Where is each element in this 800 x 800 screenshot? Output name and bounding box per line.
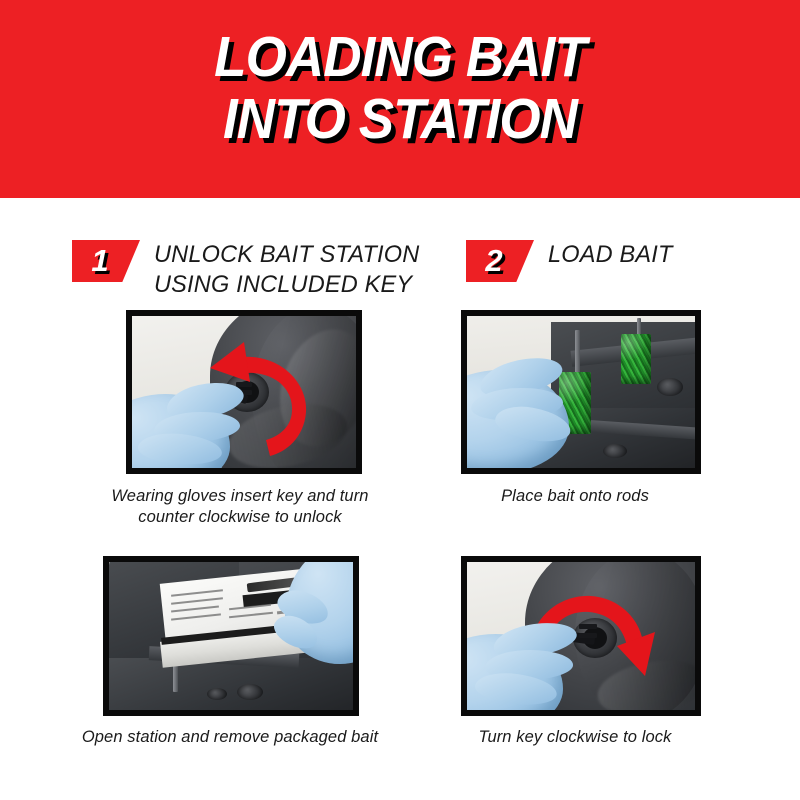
photo-panel-lock [461, 556, 701, 716]
station-screw-boss [207, 688, 227, 700]
scene-unlock [132, 316, 356, 468]
header-banner: LOADING BAIT INTO STATION [0, 0, 800, 198]
caption-load-bait: Place bait onto rods [440, 486, 710, 507]
photo-frame-unlock [126, 310, 362, 474]
step-heading-2: 2 LOAD BAIT [466, 240, 678, 282]
photo-panel-unlock [126, 310, 362, 474]
bait-block [621, 334, 651, 384]
photo-frame-open-station [103, 556, 359, 716]
station-screw-boss [603, 444, 627, 458]
station-screw-boss [657, 378, 683, 396]
step-badge-2: 2 [466, 240, 534, 282]
caption-open-station: Open station and remove packaged bait [60, 727, 400, 748]
station-screw-boss [237, 684, 263, 700]
caption-lock: Turn key clockwise to lock [440, 727, 710, 748]
photo-frame-load-bait [461, 310, 701, 474]
step-title-2: LOAD BAIT [548, 240, 673, 270]
page-title: LOADING BAIT INTO STATION [28, 26, 772, 150]
scene-load-bait [467, 316, 695, 468]
station-floor [109, 658, 355, 716]
caption-unlock: Wearing gloves insert key and turn count… [70, 486, 410, 528]
photo-panel-open-station [103, 556, 359, 716]
photo-frame-lock [461, 556, 701, 716]
scene-open-station [109, 562, 353, 710]
step-number-2: 2 [466, 240, 522, 282]
scene-lock [467, 562, 695, 710]
step-heading-1: 1 UNLOCK BAIT STATION USING INCLUDED KEY [72, 240, 431, 300]
step-badge-1: 1 [72, 240, 140, 282]
photo-panel-load-bait [461, 310, 701, 474]
step-title-1: UNLOCK BAIT STATION USING INCLUDED KEY [154, 240, 419, 300]
step-number-1: 1 [72, 240, 128, 282]
